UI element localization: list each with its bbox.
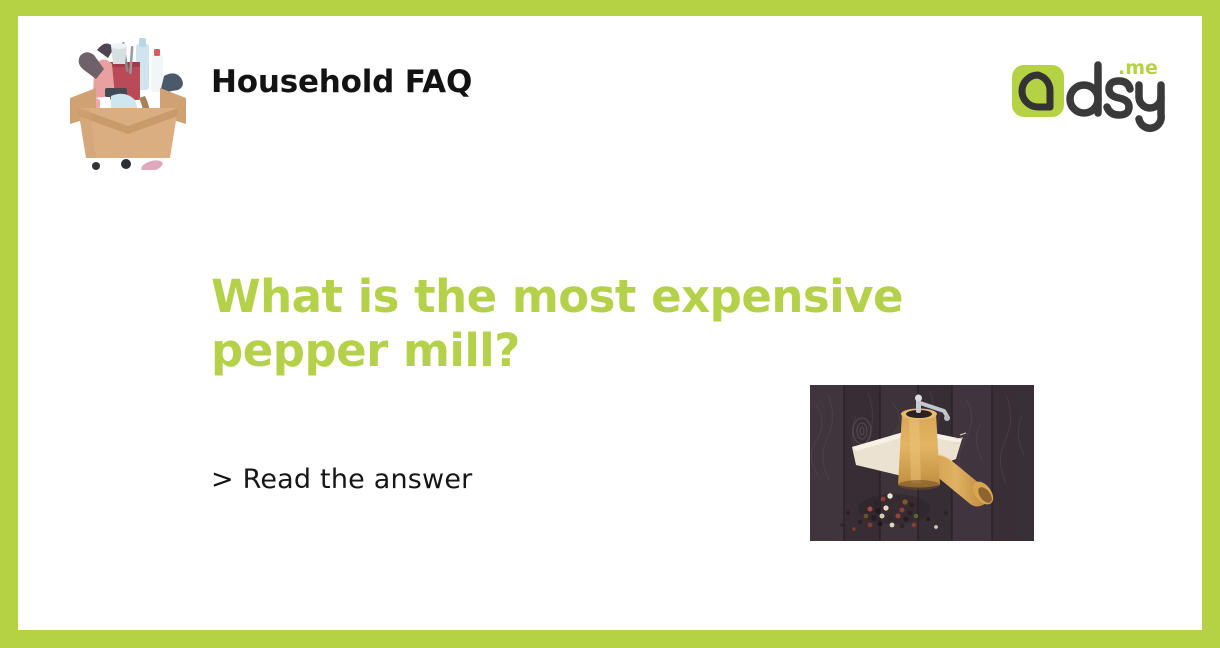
read-the-answer-link[interactable]: > Read the answer <box>211 464 472 495</box>
page-title: Household FAQ <box>211 64 472 100</box>
question-headline: What is the most expensive pepper mill? <box>211 270 1021 378</box>
page-root: Household FAQ <box>0 0 1220 648</box>
content-canvas: Household FAQ <box>18 16 1202 630</box>
pepper-mill-photo <box>810 385 1034 541</box>
page-header: Household FAQ <box>18 16 1202 166</box>
household-items-box-illustration <box>48 30 208 170</box>
svg-text:.me: .me <box>1118 57 1158 79</box>
adsy-logo[interactable]: .me <box>998 41 1168 141</box>
